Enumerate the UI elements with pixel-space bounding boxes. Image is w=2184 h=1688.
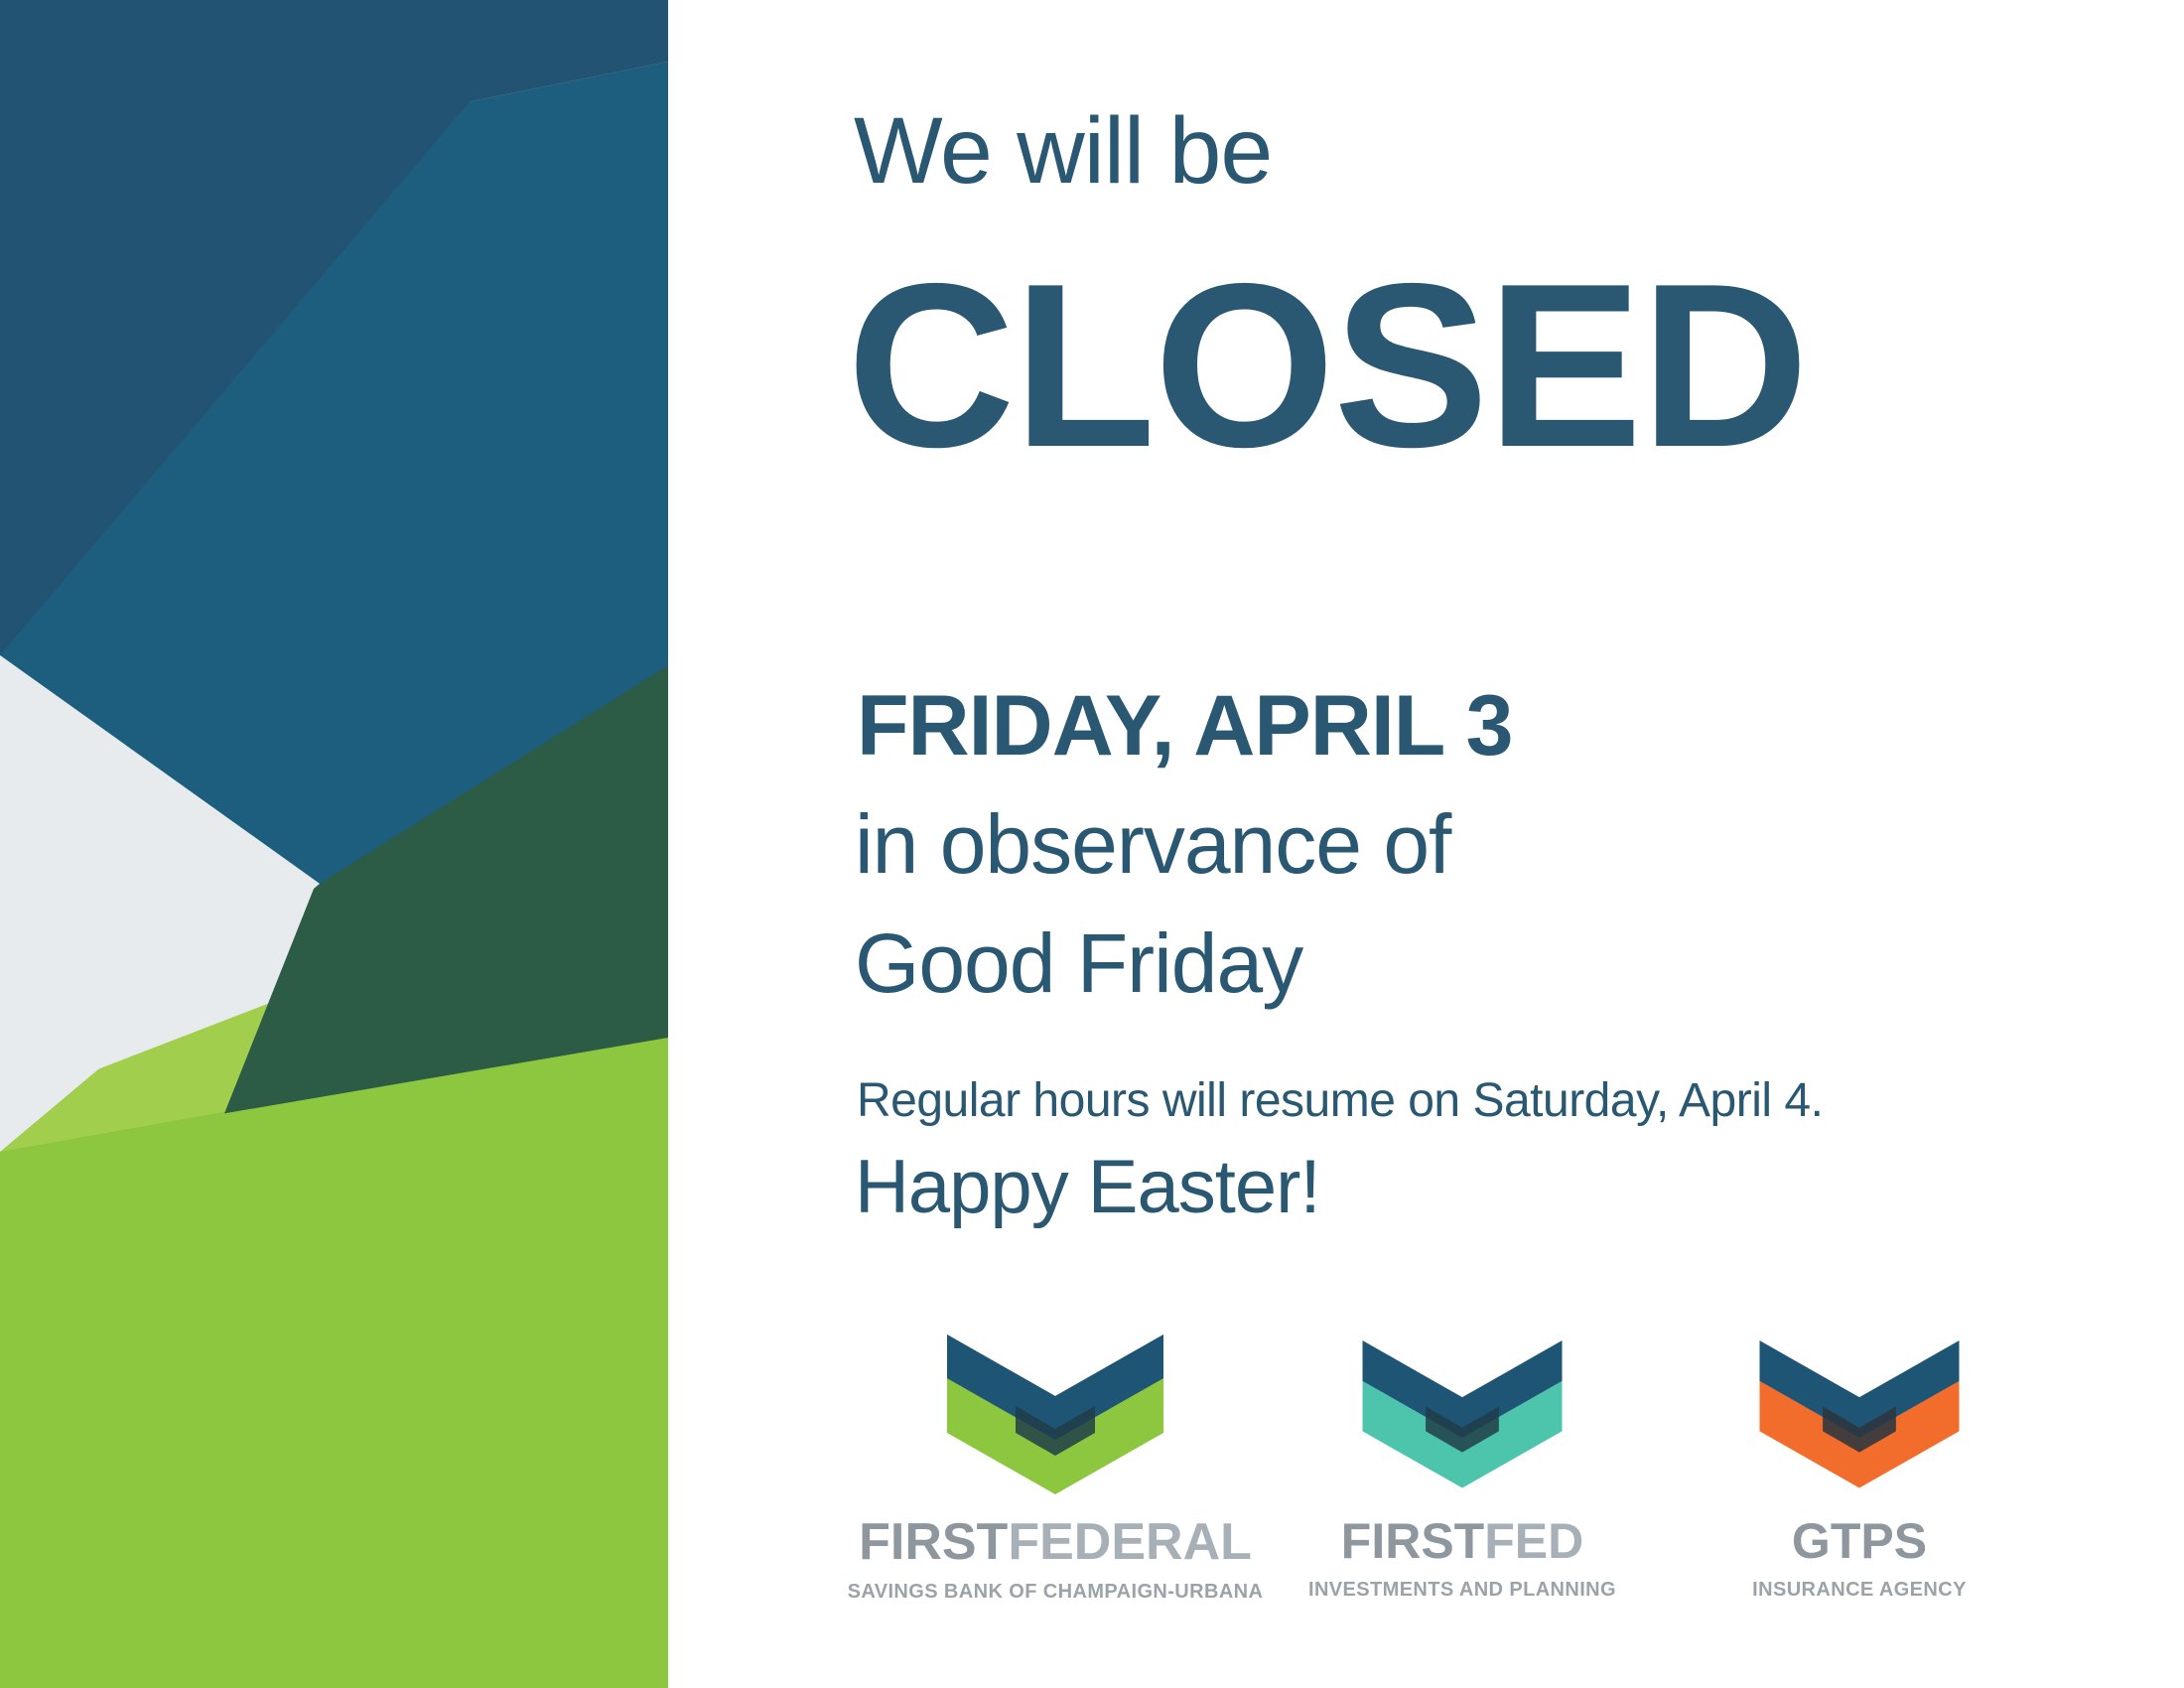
gtps-wordmark: GTPS xyxy=(1792,1516,1927,1566)
logo-first-federal: FIRSTFEDERAL SAVINGS BANK OF CHAMPAIGN-U… xyxy=(847,1331,1264,1602)
closed-headline: CLOSED xyxy=(847,248,1807,482)
first-federal-chevron-icon xyxy=(941,1331,1169,1494)
first-fed-name-2: FED xyxy=(1484,1513,1583,1569)
gtps-name-1: GTPS xyxy=(1792,1513,1927,1569)
gtps-tagline: INSURANCE AGENCY xyxy=(1752,1580,1967,1600)
first-federal-name-1: FIRST xyxy=(859,1513,1008,1571)
geometric-artwork-svg xyxy=(0,0,668,1688)
first-fed-tagline: INVESTMENTS AND PLANNING xyxy=(1308,1580,1616,1600)
holiday-greeting: Happy Easter! xyxy=(855,1150,1320,1225)
first-fed-wordmark: FIRSTFED xyxy=(1341,1516,1583,1566)
first-fed-name-1: FIRST xyxy=(1341,1513,1484,1569)
artwork-green-overlay xyxy=(0,1038,668,1688)
closure-date: FRIDAY, APRIL 3 xyxy=(857,683,1512,769)
first-federal-name-2: FEDERAL xyxy=(1008,1513,1252,1571)
geometric-artwork-panel xyxy=(0,0,668,1688)
message-content: We will be CLOSED FRIDAY, APRIL 3 in obs… xyxy=(668,0,2184,1688)
logo-gtps: GTPS INSURANCE AGENCY xyxy=(1661,1331,2058,1600)
first-federal-wordmark: FIRSTFEDERAL xyxy=(859,1516,1252,1568)
logo-first-fed: FIRSTFED INVESTMENTS AND PLANNING xyxy=(1264,1331,1661,1600)
brand-logo-row: FIRSTFEDERAL SAVINGS BANK OF CHAMPAIGN-U… xyxy=(847,1331,2058,1628)
first-federal-tagline: SAVINGS BANK OF CHAMPAIGN-URBANA xyxy=(848,1582,1264,1602)
lead-text: We will be xyxy=(854,104,1272,199)
resume-hours-note: Regular hours will resume on Saturday, A… xyxy=(857,1077,1823,1125)
closure-notice-poster: We will be CLOSED FRIDAY, APRIL 3 in obs… xyxy=(0,0,2184,1688)
observance-text: in observance of xyxy=(855,802,1450,886)
gtps-chevron-icon xyxy=(1754,1331,1965,1494)
holiday-name: Good Friday xyxy=(855,921,1302,1005)
first-fed-chevron-icon xyxy=(1357,1331,1568,1494)
